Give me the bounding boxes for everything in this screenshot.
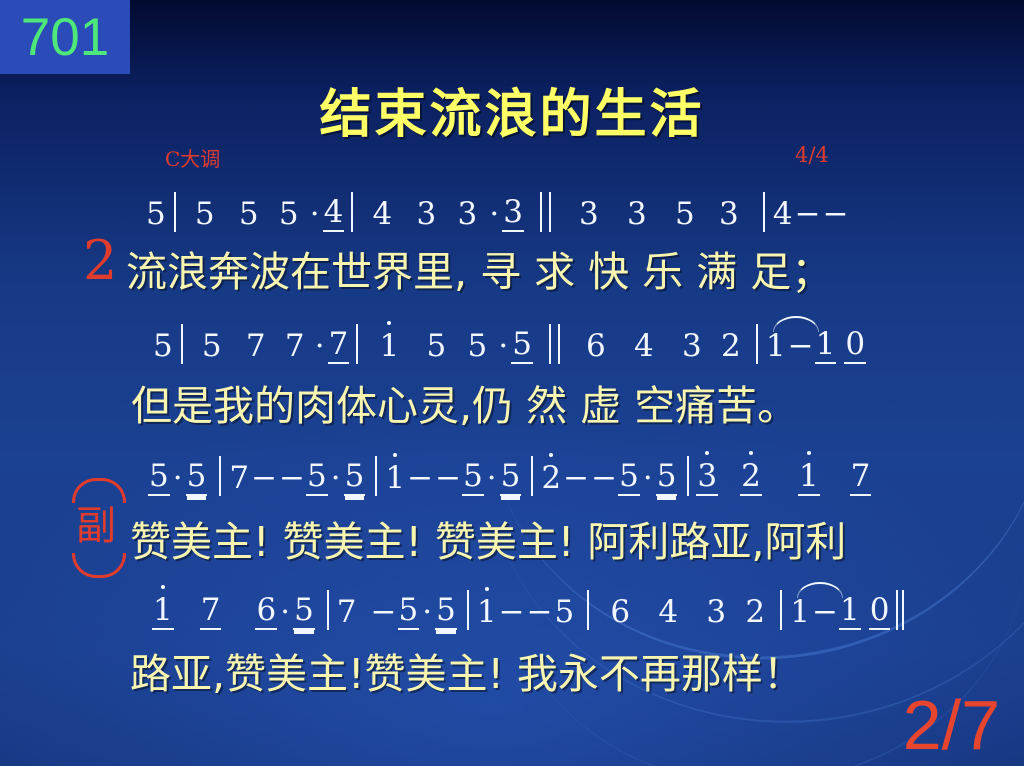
chorus-paren-bottom-icon (72, 553, 126, 578)
lyric-line-2: 但是我的肉体心灵,仍 然 虚 空痛苦。 (131, 372, 1024, 432)
notation-line-1: 5 5 5 5 · 4 4 3 3 · 3 3 3 5 3 4 −− (0, 192, 1024, 240)
tie-arc-icon: 1− (765, 328, 815, 364)
lyric-line-3: 赞美主! 赞美主! 赞美主! 阿利路亚,阿利 (130, 508, 1024, 568)
lyric-line-4: 路亚,赞美主!赞美主! 我永不再那样！ (130, 640, 1024, 700)
page-title: 结束流浪的生活 (0, 72, 1024, 147)
hymn-number-badge: 701 (0, 0, 130, 74)
time-signature-label: 4/4 (795, 143, 829, 167)
tie-arc-icon: 1− (789, 594, 839, 630)
verse-number-marker: 2 (83, 234, 117, 288)
notation-line-2: 5 5 7 7 · 7 1 5 5 · 5 6 4 3 2 1− 1 0 (0, 324, 1024, 372)
chorus-marker-label: 副 (68, 504, 124, 548)
page-number: 2/7 (903, 690, 1000, 760)
hymn-number: 701 (21, 11, 109, 64)
final-barline-icon (896, 590, 904, 630)
notation-line-4: 1 7 6 · 5 7 − 5 · 5 1 −− 5 6 4 3 2 1− 1 … (0, 590, 1024, 638)
notation-line-3: 5 · 5 7 −− 5 · 5 1 −− 5 · 5 2 −− 5 · 5 3… (0, 456, 1024, 504)
lyric-line-1: 流浪奔波在世界里, 寻 求 快 乐 满 足； (126, 238, 1024, 298)
hymn-slide: 701 结束流浪的生活 C大调 4/4 2 副 5 5 5 5 · 4 4 3 … (0, 0, 1024, 766)
key-signature-label: C大调 (165, 143, 220, 172)
